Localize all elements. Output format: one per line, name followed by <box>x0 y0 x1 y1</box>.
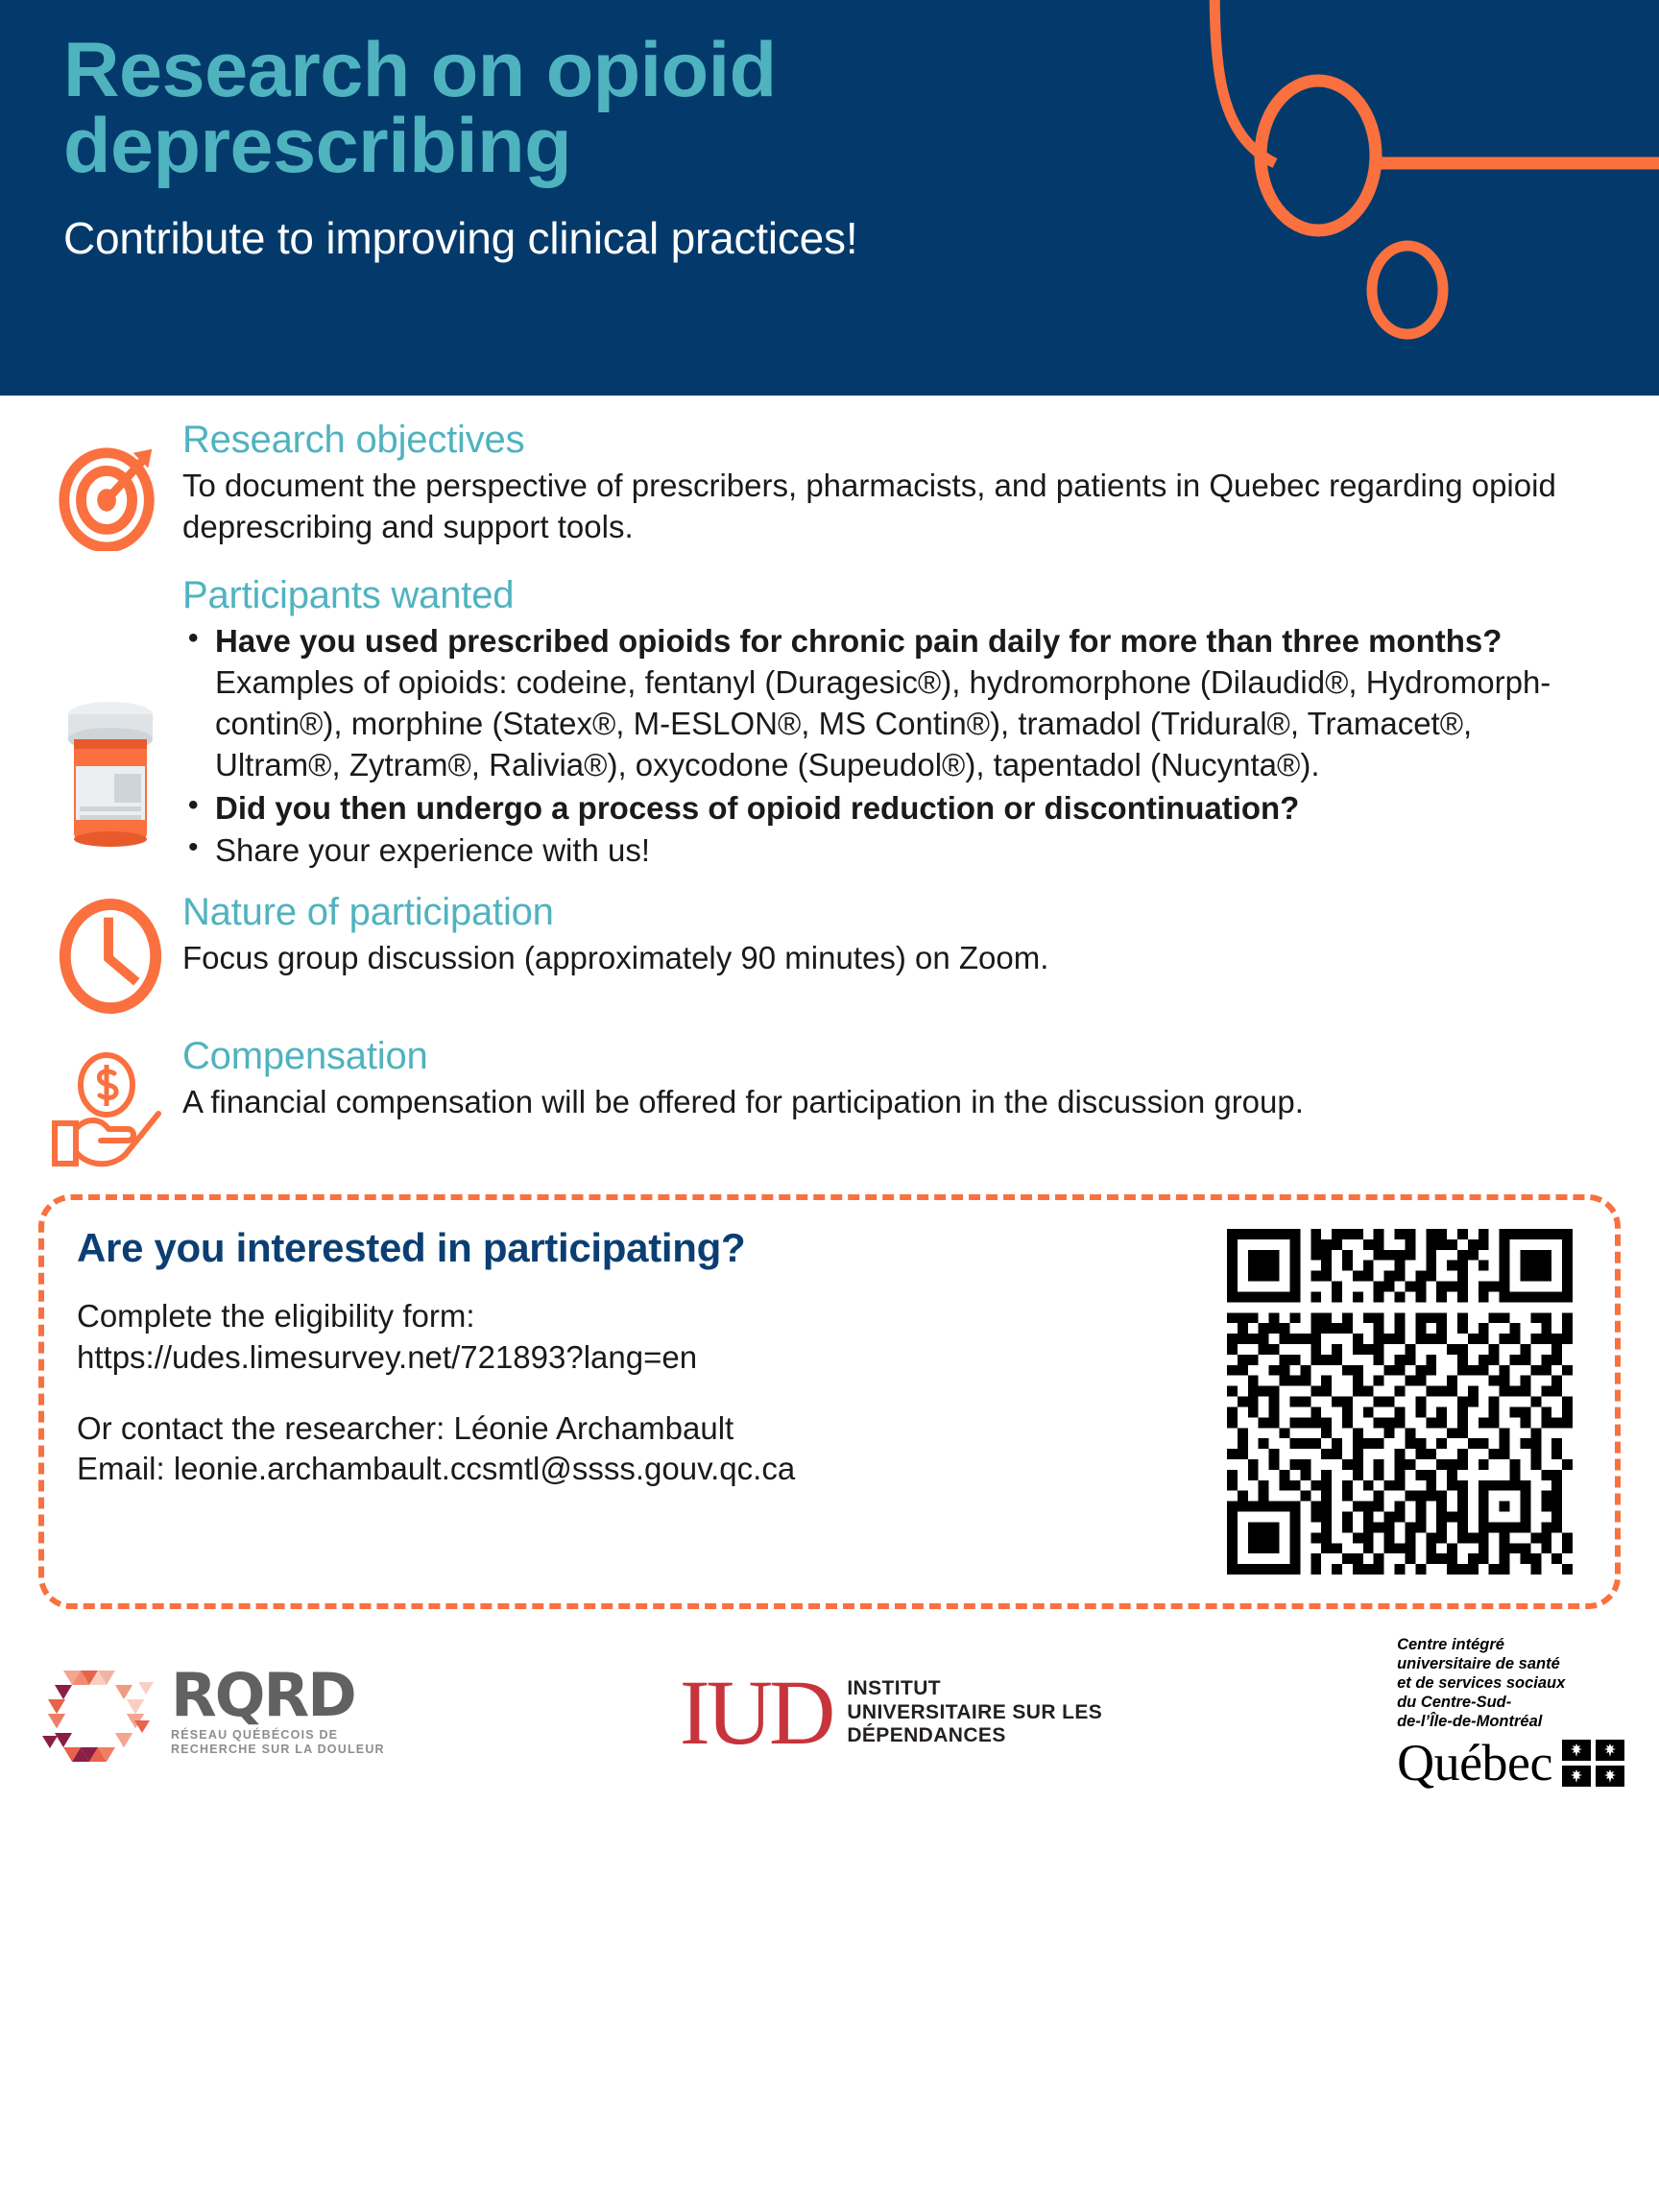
qr-code[interactable] <box>1227 1225 1582 1575</box>
clock-icon <box>38 891 182 1014</box>
hand-holding-dollar-icon <box>38 1035 182 1167</box>
section-body: Participants wanted Have you used prescr… <box>182 574 1621 874</box>
flag-cell <box>1562 1766 1591 1787</box>
section-heading: Participants wanted <box>182 574 1601 617</box>
section-heading: Research objectives <box>182 419 1601 462</box>
ciusss-line1: Centre intégré <box>1397 1636 1624 1655</box>
list-item: Share your experience with us! <box>215 830 1601 872</box>
section-heading: Compensation <box>182 1035 1601 1078</box>
rqrd-subtitle-line2: RECHERCHE SUR LA DOULEUR <box>171 1743 385 1758</box>
flag-cell <box>1596 1766 1624 1787</box>
pill-bottle-icon <box>38 574 182 853</box>
section-text: A financial compensation will be offered… <box>182 1082 1601 1123</box>
criteria-question: Have you used prescribed opioids for chr… <box>215 623 1502 659</box>
section-research-objectives: Research objectives To document the pers… <box>0 419 1659 551</box>
participants-criteria-list: Have you used prescribed opioids for chr… <box>182 621 1601 872</box>
logo-iud: IUD INSTITUT UNIVERSITAIRE SUR LES DÉPEN… <box>680 1673 1103 1752</box>
section-body: Nature of participation Focus group disc… <box>182 891 1621 979</box>
section-text: To document the perspective of prescribe… <box>182 466 1601 548</box>
cta-form-label: Complete the eligibility form: <box>77 1296 1217 1336</box>
list-item: Have you used prescribed opioids for chr… <box>215 621 1601 786</box>
iud-line2: UNIVERSITAIRE SUR LES <box>847 1701 1102 1724</box>
section-heading: Nature of participation <box>182 891 1601 934</box>
spacer <box>77 1378 1217 1408</box>
rqrd-hexagon-logo <box>35 1651 157 1774</box>
cta-box: Are you interested in participating? Com… <box>38 1194 1621 1609</box>
section-text: Focus group discussion (approximately 90… <box>182 938 1601 979</box>
ciusss-line5: de-l’Île-de-Montréal <box>1397 1713 1624 1732</box>
poster-header: Research on opioid deprescribing Contrib… <box>0 0 1659 396</box>
rqrd-subtitle: RÉSEAU QUÉBÉCOIS DE RECHERCHE SUR LA DOU… <box>171 1728 385 1758</box>
rqrd-acronym: RQRD <box>171 1668 385 1722</box>
flag-cell <box>1596 1740 1624 1761</box>
section-body: Research objectives To document the pers… <box>182 419 1621 548</box>
rqrd-wordmark: RQRD RÉSEAU QUÉBÉCOIS DE RECHERCHE SUR L… <box>171 1668 385 1758</box>
section-participants-wanted: Participants wanted Have you used prescr… <box>0 574 1659 874</box>
page-title: Research on opioid deprescribing <box>63 33 1071 185</box>
page-subtitle: Contribute to improving clinical practic… <box>63 212 1659 264</box>
poster-content: Research objectives To document the pers… <box>0 419 1659 1789</box>
cta-title: Are you interested in participating? <box>77 1225 1217 1271</box>
iud-wordmark: INSTITUT UNIVERSITAIRE SUR LES DÉPENDANC… <box>847 1677 1102 1747</box>
criteria-question: Did you then undergo a process of opioid… <box>215 790 1299 826</box>
iud-monogram: IUD <box>680 1673 832 1752</box>
cta-text-column: Are you interested in participating? Com… <box>77 1225 1227 1489</box>
section-nature-of-participation: Nature of participation Focus group disc… <box>0 891 1659 1014</box>
criteria-note: Examples of opioids: codeine, fentanyl (… <box>215 662 1601 786</box>
iud-line1: INSTITUT <box>847 1677 1102 1700</box>
quebec-wordmark: Québec <box>1397 1737 1552 1789</box>
footer-logos: RQRD RÉSEAU QUÉBÉCOIS DE RECHERCHE SUR L… <box>0 1609 1659 1789</box>
list-item: Did you then undergo a process of opioid… <box>215 788 1601 829</box>
cta-email-line[interactable]: Email: leonie.archambault.ccsmtl@ssss.go… <box>77 1449 1217 1489</box>
section-body: Compensation A financial compensation wi… <box>182 1035 1621 1123</box>
cta-form-url[interactable]: https://udes.limesurvey.net/721893?lang=… <box>77 1337 1217 1378</box>
ciusss-line2: universitaire de santé <box>1397 1655 1624 1674</box>
section-compensation: Compensation A financial compensation wi… <box>0 1035 1659 1167</box>
flag-cell <box>1562 1740 1591 1761</box>
target-bullseye-icon <box>38 419 182 551</box>
criteria-note: Share your experience with us! <box>215 832 650 868</box>
rqrd-subtitle-line1: RÉSEAU QUÉBÉCOIS DE <box>171 1728 385 1743</box>
logo-quebec: Centre intégré universitaire de santé et… <box>1397 1636 1624 1789</box>
quebec-fleur-de-lis-flag <box>1562 1740 1624 1787</box>
ciusss-name: Centre intégré universitaire de santé et… <box>1397 1636 1624 1731</box>
ciusss-line4: du Centre-Sud- <box>1397 1694 1624 1713</box>
logo-rqrd: RQRD RÉSEAU QUÉBÉCOIS DE RECHERCHE SUR L… <box>35 1651 385 1774</box>
cta-contact-line: Or contact the researcher: Léonie Archam… <box>77 1408 1217 1449</box>
quebec-signature: Québec <box>1397 1737 1624 1789</box>
iud-line3: DÉPENDANCES <box>847 1724 1102 1747</box>
ciusss-line3: et de services sociaux <box>1397 1674 1624 1694</box>
